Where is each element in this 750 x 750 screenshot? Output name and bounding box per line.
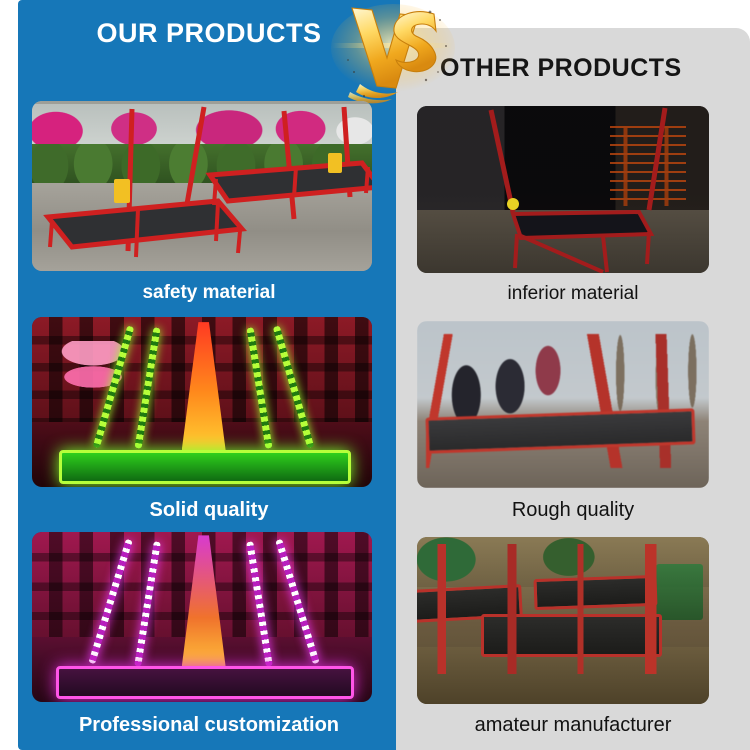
list-item-caption: Solid quality: [18, 499, 400, 522]
comparison-banner: OUR PRODUCTS OTHER PRODUCTS: [0, 0, 750, 750]
blurry-outdoor-winter-trampoline-photo: [417, 321, 709, 488]
list-item[interactable]: [417, 537, 709, 704]
list-item[interactable]: [32, 532, 372, 702]
dark-indoor-warehouse-trampoline-photo: [417, 106, 709, 273]
list-item[interactable]: [417, 321, 709, 488]
list-item-caption: Professional customization: [18, 714, 400, 737]
vs-badge-icon: [330, 0, 460, 108]
list-item-caption: inferior material: [396, 283, 750, 305]
list-item[interactable]: [32, 317, 372, 487]
night-green-led-bungee-tower-photo: [32, 317, 372, 487]
list-item-caption: Rough quality: [396, 499, 750, 522]
list-item-caption: safety material: [18, 282, 400, 304]
list-item[interactable]: [32, 101, 372, 271]
dusty-outdoor-trampoline-park-photo: [417, 537, 709, 704]
list-item[interactable]: [417, 106, 709, 273]
other-products-title: OTHER PRODUCTS: [440, 54, 740, 83]
night-purple-led-bungee-tower-photo: [32, 532, 372, 702]
outdoor-daytime-bungee-trampoline-photo: [32, 101, 372, 271]
list-item-caption: amateur manufacturer: [396, 714, 750, 737]
